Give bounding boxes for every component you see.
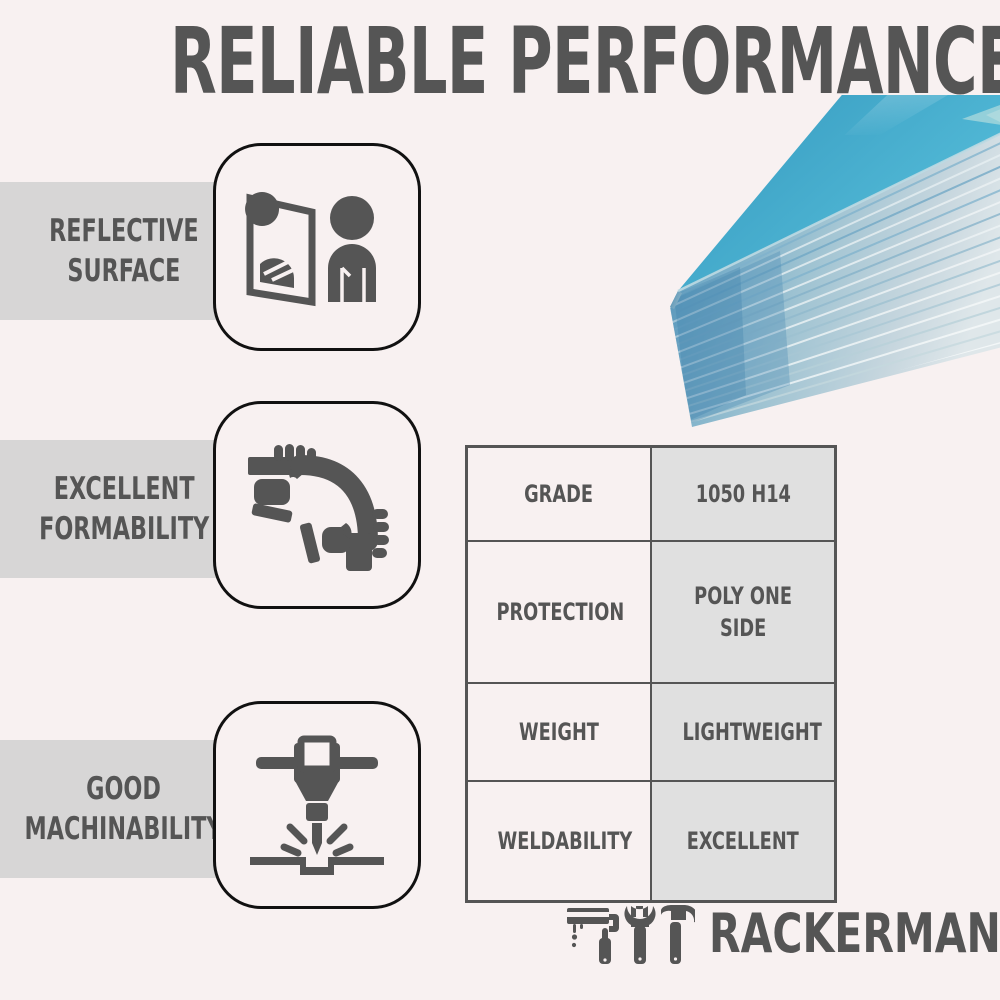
feature-label-line1: REFLECTIVE [49,211,199,251]
feature-label-line2: SURFACE [49,251,199,291]
table-row: GRADE 1050 H14 [467,447,836,542]
feature-label-line1: EXCELLENT [39,469,209,509]
drill-machining-icon [242,735,392,875]
spec-label-cell: WEIGHT [467,683,652,781]
table-row: WELDABILITY EXCELLENT [467,781,836,902]
spec-label-cell: GRADE [467,447,652,542]
feature-label-line2: MACHINABILITY [25,809,223,849]
feature-label-pill: GOOD MACHINABILITY [0,740,248,878]
feature-label-text: REFLECTIVE SURFACE [49,211,199,291]
feature-reflective-surface: REFLECTIVE SURFACE [0,140,430,360]
spec-label-cell: PROTECTION [467,541,652,683]
feature-icon-box [213,143,421,351]
spec-value-cell: LIGHTWEIGHT [651,683,836,781]
feature-label-pill: EXCELLENT FORMABILITY [0,440,248,578]
mirror-reflection-icon [242,182,392,312]
feature-icon-box [213,401,421,609]
product-photo [630,95,1000,455]
spec-table: GRADE 1050 H14 PROTECTION POLY ONE SIDE … [465,445,837,903]
infographic-canvas: RELIABLE PERFORMANCE REFLECTIVE SURFACE [0,0,1000,1000]
brand-name: RACKERMAN [709,906,1000,962]
feature-icon-box [213,701,421,909]
feature-label-text: GOOD MACHINABILITY [25,769,223,849]
brand-logo: RACKERMAN [565,898,985,970]
table-row: WEIGHT LIGHTWEIGHT [467,683,836,781]
feature-label-pill: REFLECTIVE SURFACE [0,182,248,320]
feature-good-machinability: GOOD MACHINABILITY [0,698,430,918]
feature-excellent-formability: EXCELLENT FORMABILITY [0,398,430,618]
spec-value-cell: POLY ONE SIDE [651,541,836,683]
metal-bending-hands-icon [242,435,392,575]
table-row: PROTECTION POLY ONE SIDE [467,541,836,683]
feature-label-line2: FORMABILITY [39,509,209,549]
spec-value-cell: EXCELLENT [651,781,836,902]
spec-label-cell: WELDABILITY [467,781,652,902]
logo-tools-mark [565,902,695,966]
feature-label-text: EXCELLENT FORMABILITY [39,469,209,549]
hammer-icon [661,905,695,964]
spec-value-cell: 1050 H14 [651,447,836,542]
paint-roller-icon [567,908,619,964]
feature-label-line1: GOOD [25,769,223,809]
wrench-icon [624,906,655,964]
page-title: RELIABLE PERFORMANCE [170,14,830,110]
